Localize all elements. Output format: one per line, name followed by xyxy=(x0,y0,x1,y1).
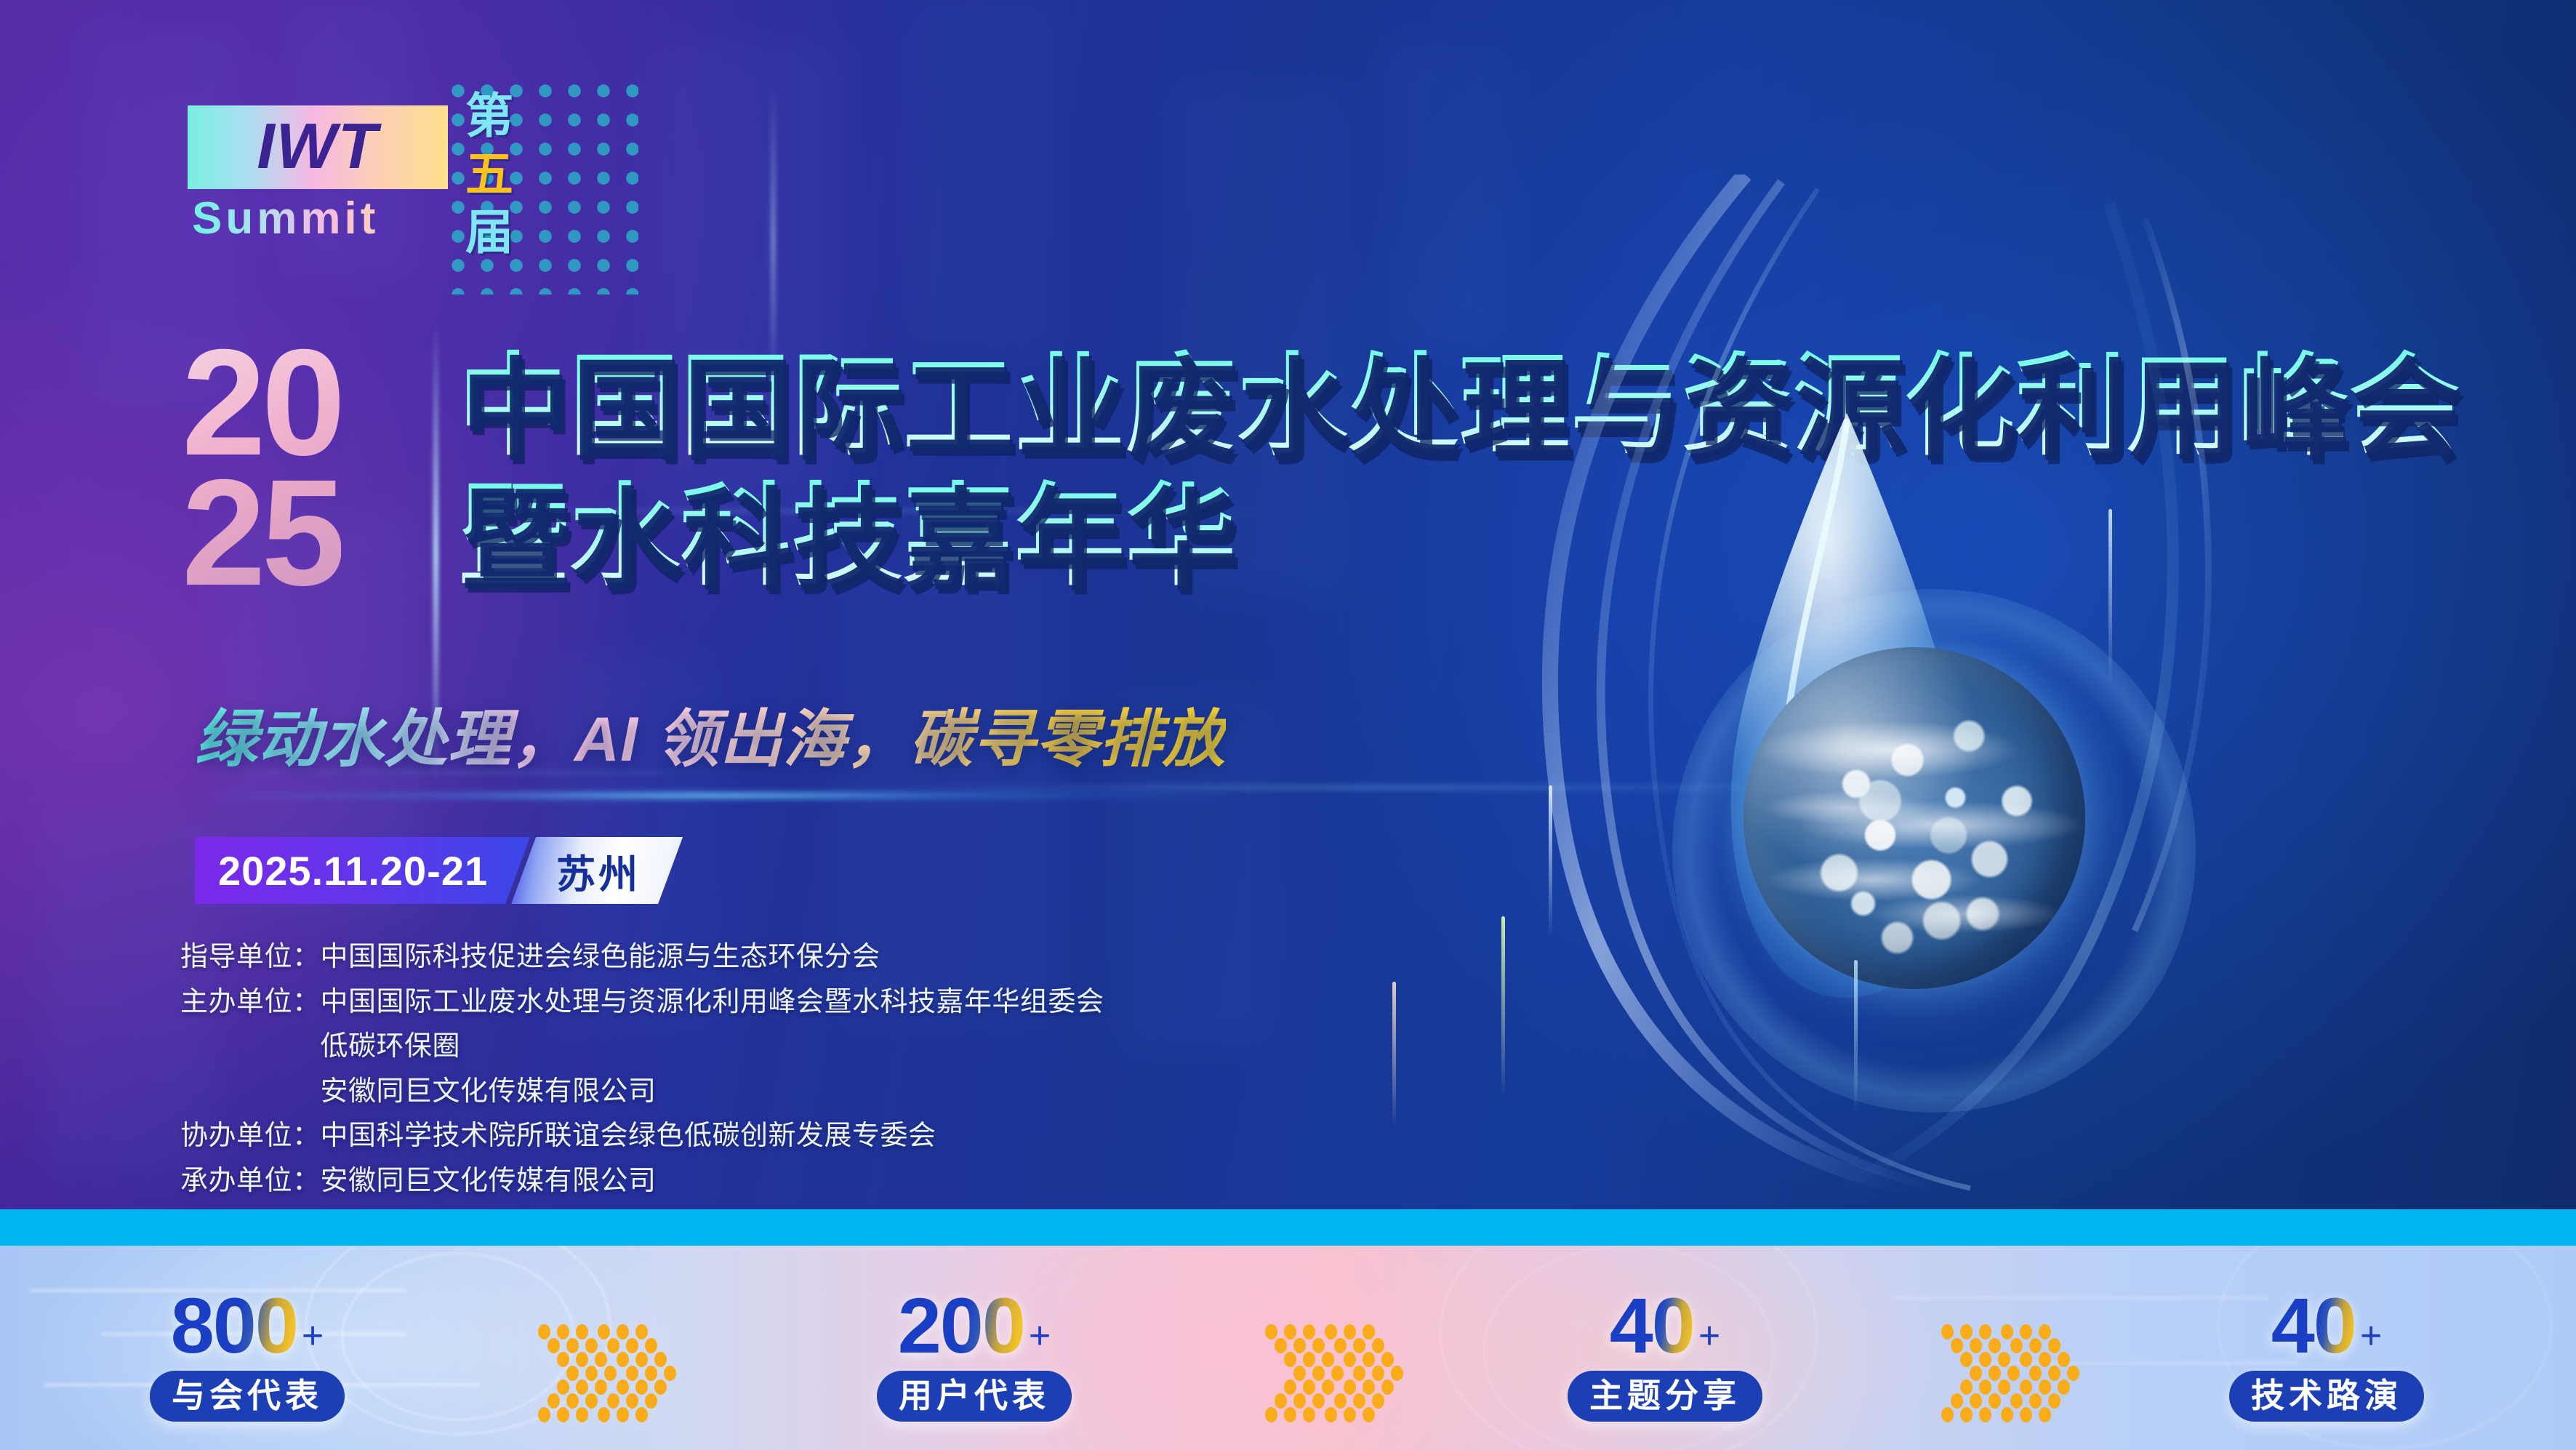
edition-char-1: 第 xyxy=(465,93,513,141)
chevron-separator-icon xyxy=(538,1324,654,1411)
stat-plus: + xyxy=(2360,1315,2382,1357)
iwt-logo: IWT Summit xyxy=(188,105,449,295)
light-rod xyxy=(2108,509,2112,684)
organizer-value: 安徽同巨文化传媒有限公司 xyxy=(321,1159,657,1204)
year-bottom: 25 xyxy=(182,468,341,598)
light-rod xyxy=(1392,982,1396,1127)
banner-hero: IWT Summit 第 五 届 20 25 中国国际工业废水处理与资源化利用峰… xyxy=(0,0,2576,1209)
stat-label: 用户代表 xyxy=(877,1371,1072,1422)
organizer-list: 指导单位： 中国国际科技促进会绿色能源与生态环保分会 主办单位： 中国国际工业废… xyxy=(180,935,1104,1203)
event-date-chip: 2025.11.20-21 xyxy=(195,837,530,904)
light-rod xyxy=(1549,785,1552,938)
organizer-value: 中国科学技术院所联谊会绿色低碳创新发展专委会 xyxy=(321,1114,936,1159)
organizer-label: 协办单位： xyxy=(180,1114,321,1159)
event-city-chip: 苏州 xyxy=(511,837,683,904)
cyan-divider xyxy=(0,1209,2576,1246)
date-location-bar: 2025.11.20-21 苏州 xyxy=(195,837,683,904)
light-rod xyxy=(1854,960,1858,1113)
edition-char-2: 五 xyxy=(465,151,513,199)
organizer-label: 承办单位： xyxy=(180,1159,321,1204)
organizer-label: 指导单位： xyxy=(180,935,321,980)
stat-number: 200 xyxy=(898,1286,1024,1365)
organizer-row: 主办单位： 中国国际工业废水处理与资源化利用峰会暨水科技嘉年华组委会 xyxy=(180,980,1104,1025)
logo-mark-text: IWT xyxy=(188,105,448,189)
event-slogan: 绿动水处理，AI 领出海，碳寻零排放 xyxy=(195,705,1226,774)
edition-label: 第 五 届 xyxy=(465,93,513,257)
slogan-glow-line xyxy=(167,790,1258,801)
organizer-value: 中国国际科技促进会绿色能源与生态环保分会 xyxy=(321,935,880,980)
organizer-row: 协办单位： 中国科学技术院所联谊会绿色低碳创新发展专委会 xyxy=(180,1114,1104,1159)
stat-item: 40+ 主题分享 xyxy=(1512,1286,1818,1422)
organizer-value: 安徽同巨文化传媒有限公司 xyxy=(321,1070,657,1115)
stats-bar: 800+ 与会代表 200+ 用户代表 xyxy=(0,1246,2576,1450)
logo-wordmark: Summit xyxy=(188,196,449,241)
stat-plus: + xyxy=(1698,1315,1720,1357)
water-droplet-graphic xyxy=(1643,407,2225,1142)
logo-badge: IWT xyxy=(188,105,448,189)
organizer-label: 主办单位： xyxy=(180,980,321,1025)
stat-plus: + xyxy=(302,1315,324,1357)
edition-char-3: 届 xyxy=(465,209,513,257)
stat-number: 40 xyxy=(1610,1286,1694,1365)
stat-label: 技术路演 xyxy=(2229,1371,2424,1422)
light-rod xyxy=(1501,916,1505,1098)
organizer-row: 主办单位： 低碳环保圈 xyxy=(180,1025,1104,1070)
chevron-separator-icon xyxy=(1941,1324,2058,1411)
stat-label: 主题分享 xyxy=(1568,1371,1762,1422)
organizer-row: 承办单位： 安徽同巨文化传媒有限公司 xyxy=(180,1159,1104,1204)
stat-item: 40+ 技术路演 xyxy=(2174,1286,2479,1422)
organizer-row: 主办单位： 安徽同巨文化传媒有限公司 xyxy=(180,1070,1104,1115)
conference-banner: IWT Summit 第 五 届 20 25 中国国际工业废水处理与资源化利用峰… xyxy=(0,0,2576,1450)
stat-item: 800+ 与会代表 xyxy=(95,1286,400,1422)
organizer-row: 指导单位： 中国国际科技促进会绿色能源与生态环保分会 xyxy=(180,935,1104,980)
stat-item: 200+ 用户代表 xyxy=(822,1286,1127,1422)
organizer-value: 低碳环保圈 xyxy=(321,1025,461,1070)
year-watermark: 20 25 xyxy=(182,338,341,598)
stat-number: 800 xyxy=(171,1286,297,1365)
earth-globe-icon xyxy=(1744,647,2085,989)
stat-label: 与会代表 xyxy=(150,1371,345,1422)
organizer-value: 中国国际工业废水处理与资源化利用峰会暨水科技嘉年华组委会 xyxy=(321,980,1104,1025)
chevron-separator-icon xyxy=(1265,1324,1381,1411)
stat-number: 40 xyxy=(2271,1286,2356,1365)
stat-plus: + xyxy=(1029,1315,1051,1357)
